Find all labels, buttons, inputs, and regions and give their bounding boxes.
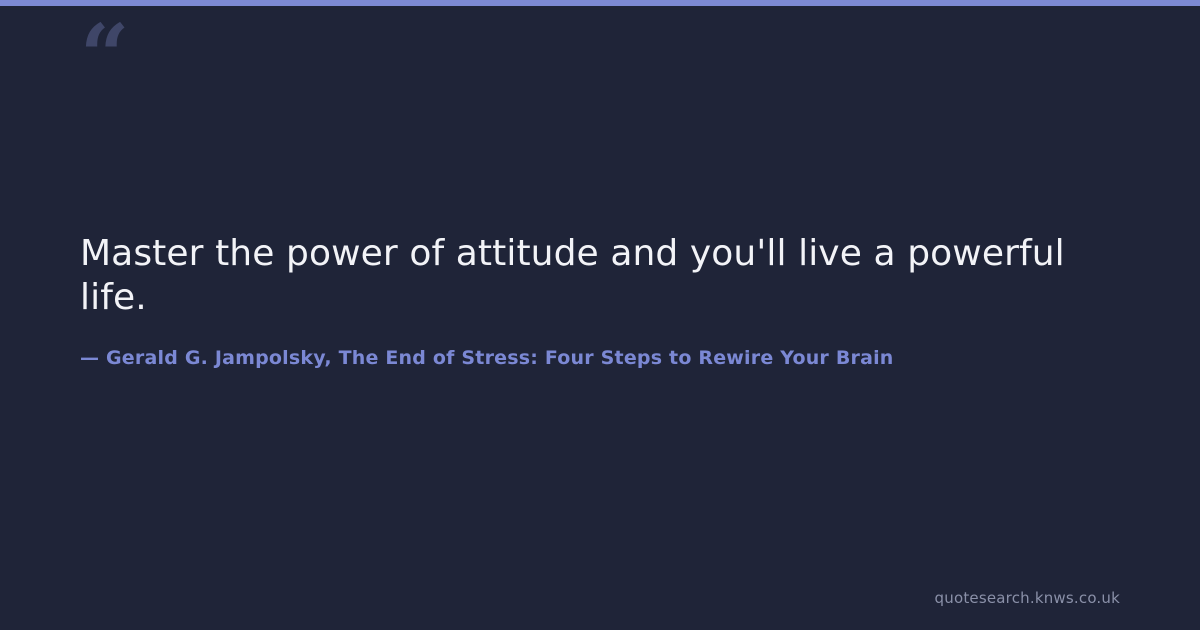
quote-attribution: — Gerald G. Jampolsky, The End of Stress…: [80, 345, 1100, 371]
footer-site-label: quotesearch.knws.co.uk: [935, 588, 1120, 608]
quotation-mark-icon: “: [80, 14, 127, 100]
quote-text: Master the power of attitude and you'll …: [80, 232, 1100, 320]
quote-block: Master the power of attitude and you'll …: [80, 232, 1100, 320]
quote-content-area: “ Master the power of attitude and you'l…: [80, 0, 1100, 630]
quote-card: “ Master the power of attitude and you'l…: [0, 0, 1200, 630]
